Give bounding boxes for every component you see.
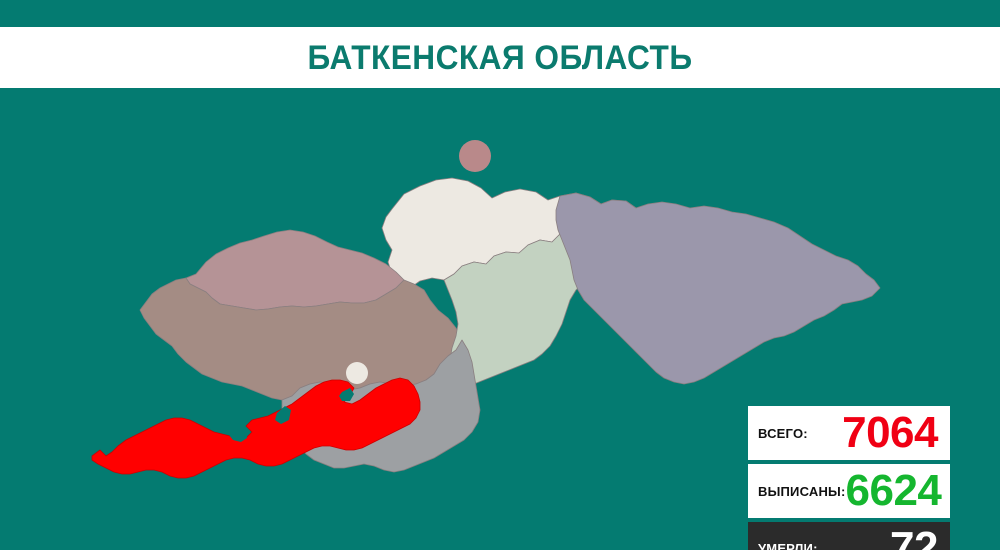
map-marker-bishkek[interactable] xyxy=(459,140,491,172)
stat-row-total[interactable]: ВСЕГО: 7064 xyxy=(748,406,950,460)
stat-label-deaths: УМЕРЛИ: xyxy=(758,541,818,550)
stat-value-total: 7064 xyxy=(842,411,938,455)
map-stage: ВСЕГО: 7064 ВЫПИСАНЫ: 6624 УМЕРЛИ: 72 xyxy=(0,88,1000,550)
map-marker-osh[interactable] xyxy=(346,362,368,384)
stat-value-deaths: 72 xyxy=(890,526,938,550)
top-teal-band xyxy=(0,0,1000,27)
stat-row-recovered[interactable]: ВЫПИСАНЫ: 6624 xyxy=(748,464,950,518)
page-title: БАТКЕНСКАЯ ОБЛАСТЬ xyxy=(307,41,692,75)
stat-label-total: ВСЕГО: xyxy=(758,426,808,441)
map-region-talas[interactable] xyxy=(186,230,404,310)
stats-panel: ВСЕГО: 7064 ВЫПИСАНЫ: 6624 УМЕРЛИ: 72 xyxy=(748,406,950,550)
stat-row-deaths[interactable]: УМЕРЛИ: 72 xyxy=(748,522,950,550)
stat-label-recovered: ВЫПИСАНЫ: xyxy=(758,484,846,499)
stat-value-recovered: 6624 xyxy=(846,469,942,513)
map-region-issykkul[interactable] xyxy=(556,193,880,384)
title-banner: БАТКЕНСКАЯ ОБЛАСТЬ xyxy=(0,27,1000,88)
infographic-page: БАТКЕНСКАЯ ОБЛАСТЬ xyxy=(0,0,1000,550)
